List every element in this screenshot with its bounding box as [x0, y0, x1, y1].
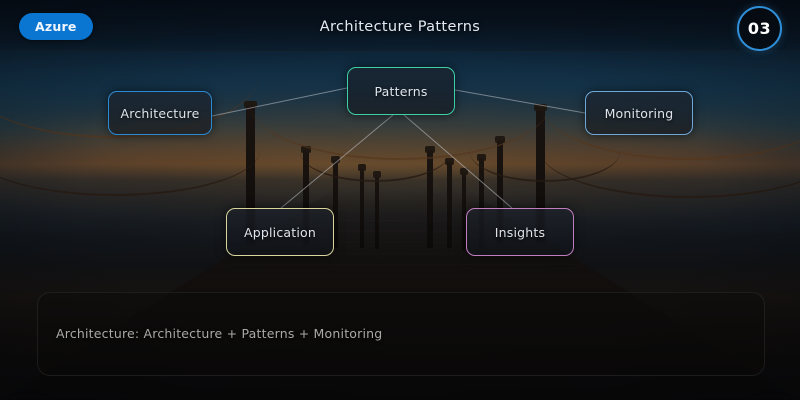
edge-patterns-to-insights — [404, 115, 512, 208]
slide-canvas: Azure Architecture Patterns 03 Architect… — [0, 0, 800, 400]
edge-architecture-to-patterns — [212, 88, 347, 116]
diagram-node-label: Architecture — [121, 106, 200, 121]
caption-text: Architecture: Architecture + Patterns + … — [56, 326, 382, 341]
caption-panel: Architecture: Architecture + Patterns + … — [37, 292, 765, 376]
diagram-node-monitoring[interactable]: Monitoring — [585, 91, 693, 135]
diagram-node-label: Patterns — [374, 84, 427, 99]
diagram-node-patterns[interactable]: Patterns — [347, 67, 455, 115]
diagram-node-label: Monitoring — [605, 106, 674, 121]
diagram-node-application[interactable]: Application — [226, 208, 334, 256]
diagram-node-insights[interactable]: Insights — [466, 208, 574, 256]
diagram-node-label: Application — [244, 225, 316, 240]
diagram-node-label: Insights — [495, 225, 545, 240]
diagram-node-architecture[interactable]: Architecture — [108, 91, 212, 135]
edge-patterns-to-application — [281, 115, 393, 208]
edge-patterns-to-monitoring — [455, 90, 585, 113]
